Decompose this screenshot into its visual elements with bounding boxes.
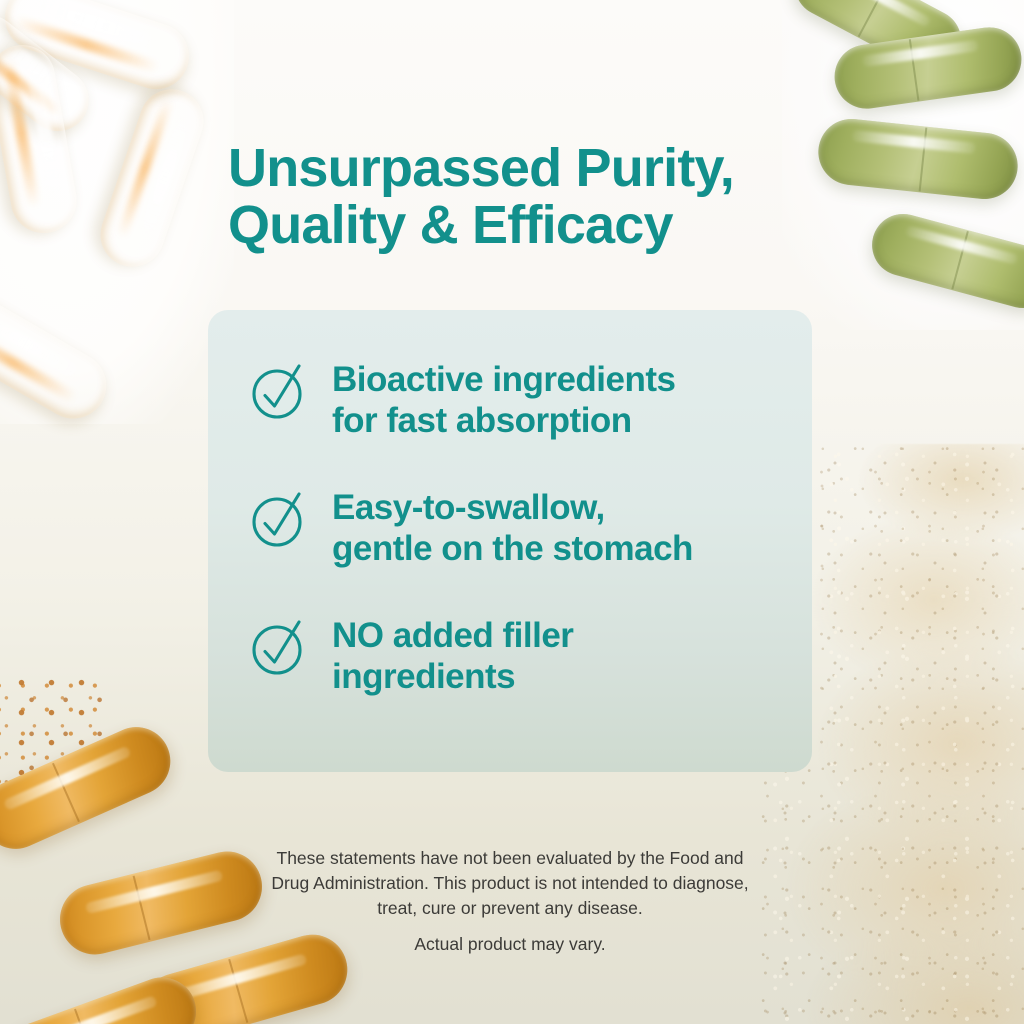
softgel-capsule	[0, 283, 118, 430]
page-title: Unsurpassed Purity,Quality & Efficacy	[228, 140, 828, 254]
check-circle-icon	[248, 488, 310, 550]
spice-powder-dust	[0, 676, 104, 806]
benefit-item-label: Bioactive ingredients for fast absorptio…	[332, 358, 675, 442]
headline-line-1: Unsurpassed Purity,	[228, 138, 734, 198]
benefit-item-label: NO added filler ingredients	[332, 614, 573, 698]
benefits-list: Bioactive ingredients for fast absorptio…	[248, 358, 786, 698]
yellow-softgel-capsules-photo	[0, 0, 234, 424]
benefit-item-easy-swallow: Easy-to-swallow, gentle on the stomach	[248, 486, 786, 570]
benefits-card: Bioactive ingredients for fast absorptio…	[208, 310, 812, 772]
benefit-item-no-fillers: NO added filler ingredients	[248, 614, 786, 698]
softgel-capsule	[0, 0, 198, 98]
softgel-capsule	[92, 81, 212, 276]
softgel-capsule	[0, 2, 101, 143]
green-capsule	[865, 207, 1024, 315]
turmeric-capsule	[0, 716, 181, 859]
green-capsule	[830, 23, 1024, 113]
headline-line-2: Quality & Efficacy	[228, 195, 673, 255]
green-capsule	[784, 0, 972, 83]
product-variance-note: Actual product may vary.	[212, 932, 808, 957]
check-circle-icon	[248, 360, 310, 422]
check-circle-icon	[248, 616, 310, 678]
turmeric-capsule	[0, 968, 206, 1024]
green-capsule	[815, 116, 1021, 203]
product-benefits-poster: Unsurpassed Purity,Quality & Efficacy Bi…	[0, 0, 1024, 1024]
fda-disclaimer: These statements have not been evaluated…	[212, 846, 808, 921]
benefit-item-bioactive: Bioactive ingredients for fast absorptio…	[248, 358, 786, 442]
softgel-capsule	[0, 40, 82, 239]
benefit-item-label: Easy-to-swallow, gentle on the stomach	[332, 486, 693, 570]
